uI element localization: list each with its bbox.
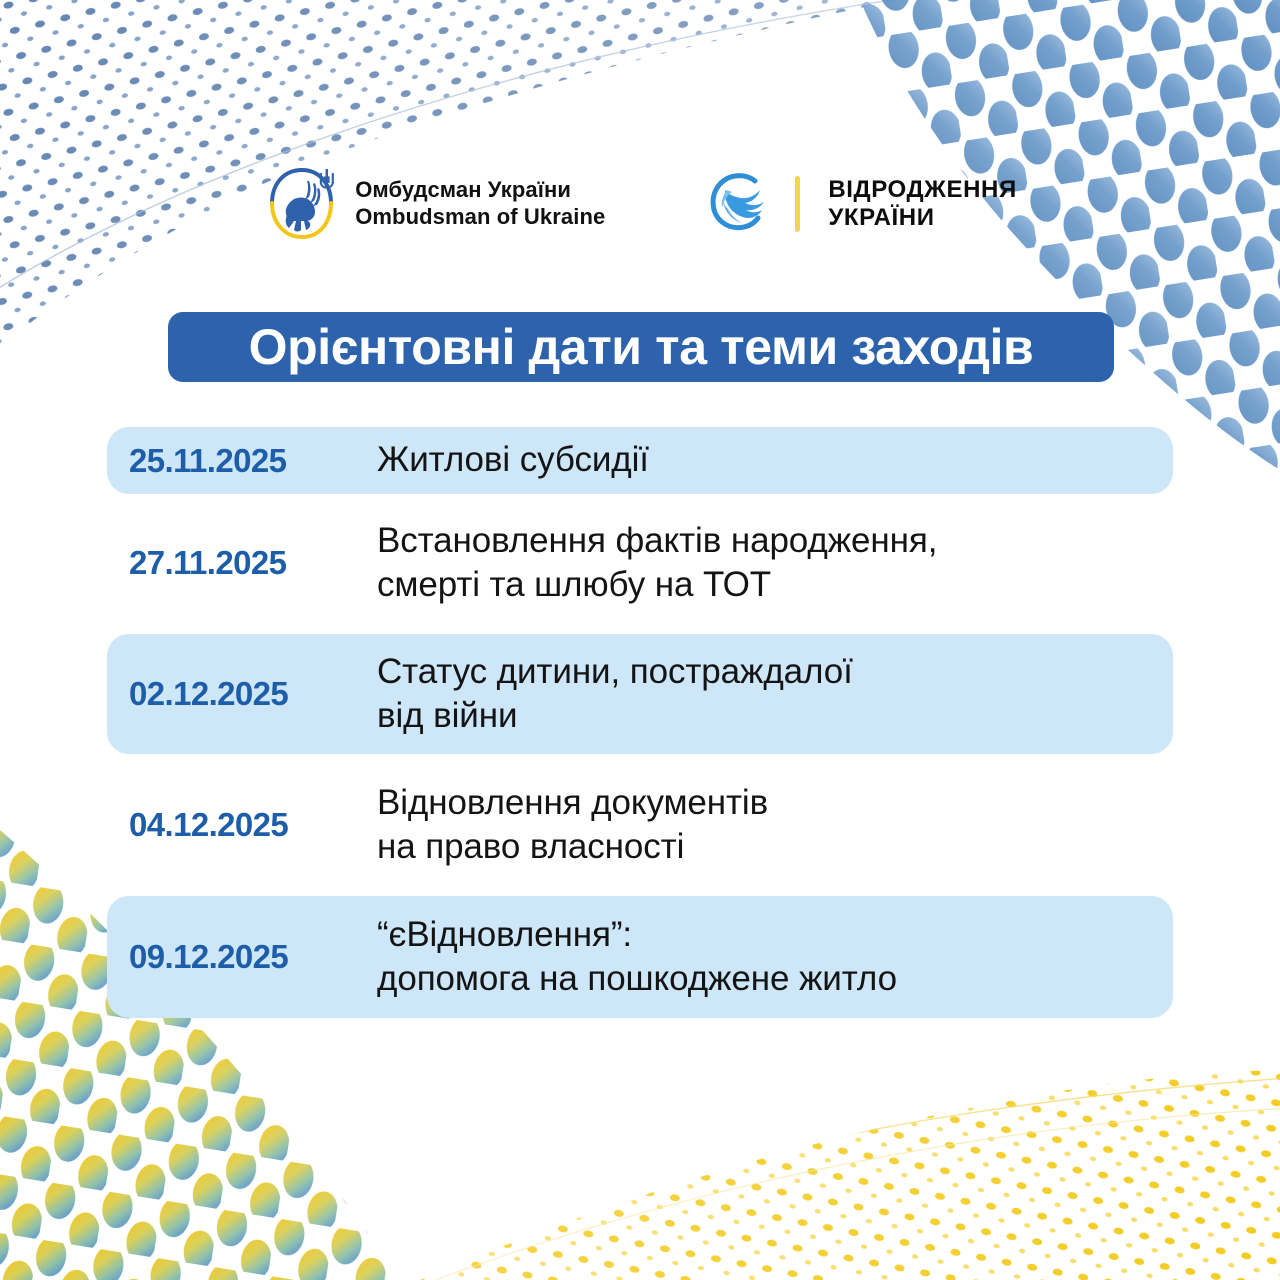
row-topic: Відновлення документів на право власност… [377,781,1151,870]
row-topic-line: Встановлення фактів народження, [377,519,1151,563]
header-logos: Омбудсман України Ombudsman of Ukraine В… [0,163,1280,245]
revival-label-line1: ВІДРОДЖЕННЯ [828,176,1016,204]
poster-canvas: Омбудсман України Ombudsman of Ukraine В… [0,0,1280,1280]
row-date: 09.12.2025 [129,938,377,976]
title-banner: Орієнтовні дати та теми заходів [168,312,1114,382]
ombudsman-dove-circle-logo-icon [263,163,341,245]
row-date: 04.12.2025 [129,806,377,844]
ombudsman-logo-text: Омбудсман України Ombudsman of Ukraine [355,177,605,231]
revival-logo-text: ВІДРОДЖЕННЯ УКРАЇНИ [828,176,1016,233]
row-topic: “єВідновлення”: допомога на пошкоджене ж… [377,913,1151,1002]
revival-label-line2: УКРАЇНИ [828,204,1016,232]
top-right-ellipse-grid [820,0,1280,490]
table-row: 02.12.2025 Статус дитини, постраждалої в… [107,634,1173,754]
table-row: 25.11.2025 Житлові субсидії [107,427,1173,494]
row-topic: Статус дитини, постраждалої від війни [377,650,1151,739]
table-row: 27.11.2025 Встановлення фактів народженн… [107,504,1173,622]
phoenix-circle-logo-icon [703,168,775,240]
row-topic-line: Відновлення документів [377,781,1151,825]
row-topic-line: “єВідновлення”: [377,913,1151,957]
table-row: 04.12.2025 Відновлення документів на пра… [107,766,1173,884]
revival-logo-divider [795,176,800,232]
row-topic-line: смерті та шлюбу на ТОТ [377,563,1151,607]
table-row: 09.12.2025 “єВідновлення”: допомога на п… [107,896,1173,1018]
row-topic: Житлові субсидії [377,438,1151,482]
page-title: Орієнтовні дати та теми заходів [249,322,1034,372]
row-topic-line: Статус дитини, постраждалої [377,650,1151,694]
ombudsman-label-ua: Омбудсман України [355,177,605,204]
row-topic: Встановлення фактів народження, смерті т… [377,519,1151,608]
schedule-list: 25.11.2025 Житлові субсидії 27.11.2025 В… [107,427,1173,1018]
ombudsman-label-en: Ombudsman of Ukraine [355,204,605,231]
row-topic-line: допомога на пошкоджене житло [377,957,1151,1001]
row-date: 02.12.2025 [129,675,377,713]
row-date: 25.11.2025 [129,442,377,480]
row-date: 27.11.2025 [129,544,377,582]
row-topic-line: від війни [377,694,1151,738]
ombudsman-logo: Омбудсман України Ombudsman of Ukraine [263,163,605,245]
bottom-right-dot-wave [330,1020,1280,1280]
revival-logo: ВІДРОДЖЕННЯ УКРАЇНИ [703,168,1016,240]
row-topic-line: Житлові субсидії [377,438,1151,482]
row-topic-line: на право власності [377,825,1151,869]
